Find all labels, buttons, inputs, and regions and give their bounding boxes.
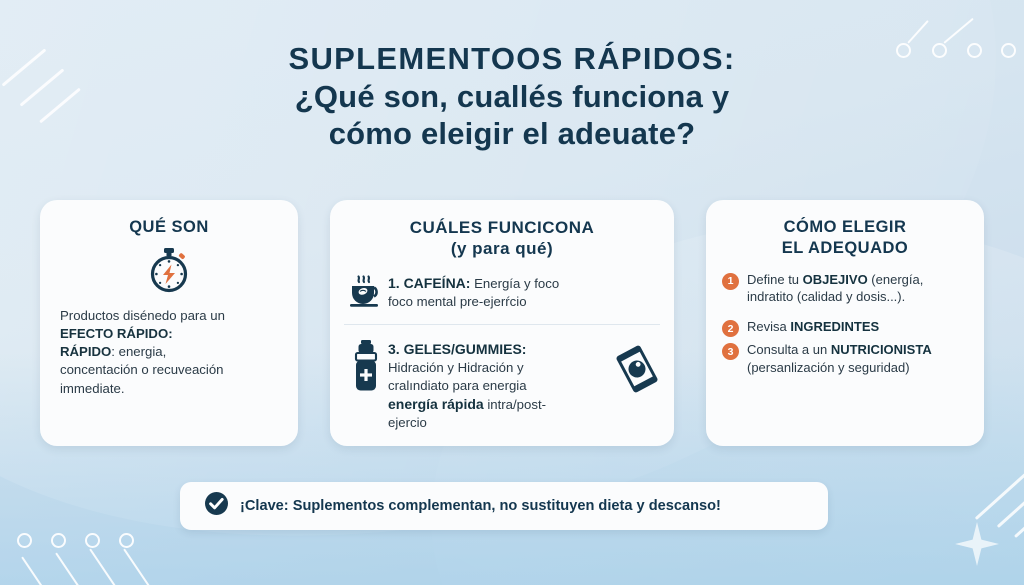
what-body-line4: immediate. (60, 381, 125, 396)
check-circle-icon (204, 491, 229, 521)
sports-bottle-icon (344, 338, 388, 392)
step-3-line2: (persanlización y seguridad) (747, 360, 910, 375)
card-divider (344, 324, 660, 325)
spacer (722, 309, 968, 318)
cafeina-label: 1. CAFEÍNA: (388, 275, 470, 291)
geles-bold: energía rápida (388, 396, 484, 412)
list-item-step-1: 1 Define tu OBJEJIVO (energía, indratito… (722, 271, 968, 306)
geles-line1: Hidración y Hidración y (388, 360, 524, 375)
step-1-line2: indratito (calidad y dosis...). (747, 289, 905, 304)
what-body-bold1: EFECTO RÁPIDO: (60, 326, 173, 341)
card-how-heading: CÓMO ELEGIR EL ADEQUADO (706, 200, 984, 259)
step-1-text: Define tu OBJEJIVO (energía, indratito (… (747, 271, 923, 306)
list-item-step-2: 2 Revisa INGREDINTES (722, 318, 968, 337)
which-heading-line2: (y para qué) (330, 238, 674, 259)
step-1-bold: OBJEJIVO (803, 272, 868, 287)
step-3-text: Consulta a un NUTRICIONISTA (persanlizac… (747, 341, 932, 376)
decorative-circle (17, 533, 32, 548)
step-number-badge: 3 (722, 343, 739, 360)
decorative-circle (85, 533, 100, 548)
what-body-line1: Productos disénedo para un (60, 308, 225, 323)
card-what-heading: QUÉ SON (40, 200, 298, 238)
step-3-bold: NUTRICIONISTA (831, 342, 932, 357)
card-which-heading: CUÁLES FUNCICONA (y para qué) (330, 200, 674, 260)
geles-text: 3. GELES/GUMMIES: Hidración y Hidración … (388, 338, 546, 432)
stopwatch-icon (40, 247, 298, 293)
how-heading-line2: EL ADEQUADO (706, 238, 984, 259)
step-2-text: Revisa INGREDINTES (747, 318, 879, 335)
title-line-1: SUPLEMENTOOS RÁPIDOS: (0, 40, 1024, 78)
geles-line4: ejercio (388, 415, 427, 430)
decorative-circle (51, 533, 66, 548)
gel-packet-icon (612, 344, 662, 399)
geles-line3: intra/post- (484, 397, 546, 412)
title-line-3: cómo eleigir el adeuate? (0, 115, 1024, 153)
step-3-pre: Consulta a un (747, 342, 831, 357)
geles-line2: cralındiato para energia (388, 378, 527, 393)
how-steps-list: 1 Define tu OBJEJIVO (energía, indratito… (706, 259, 984, 377)
title-line-2: ¿Qué son, cuallés funciona y (0, 78, 1024, 116)
key-takeaway-banner: ¡Clave: Suplementos complementan, no sus… (180, 482, 828, 530)
step-number-badge: 1 (722, 273, 739, 290)
card-cuales-funciona: CUÁLES FUNCICONA (y para qué) (330, 200, 674, 446)
step-1-pre: Define tu (747, 272, 803, 287)
what-body-bold2: RÁPIDO (60, 344, 111, 359)
card-como-elegir: CÓMO ELEGIR EL ADEQUADO 1 Define tu OBJE… (706, 200, 984, 446)
card-what-body: Productos disénedo para un EFECTO RÁPIDO… (40, 307, 298, 398)
what-body-line3: concentación o recuveación (60, 362, 224, 377)
step-1-post: (energía, (868, 272, 924, 287)
list-item-cafeina: 1. CAFEÍNA: Energía y foco foco mental p… (330, 272, 674, 328)
geles-label: 3. GELES/GUMMIES: (388, 341, 526, 357)
card-que-son: QUÉ SON Productos disénedo para un EFECT… (40, 200, 298, 446)
banner-text: ¡Clave: Suplementos complementan, no sus… (240, 498, 721, 514)
decorative-circle (119, 533, 134, 548)
cafeina-text: 1. CAFEÍNA: Energía y foco foco mental p… (388, 272, 559, 311)
how-heading-line1: CÓMO ELEGIR (706, 217, 984, 238)
list-item-geles: 3. GELES/GUMMIES: Hidración y Hidración … (330, 338, 674, 432)
list-item-step-3: 3 Consulta a un NUTRICIONISTA (persanliz… (722, 341, 968, 376)
cafeina-line2: foco mental pre-ejerŕcio (388, 294, 527, 309)
step-number-badge: 2 (722, 320, 739, 337)
cafeina-line1: Energía y foco (470, 276, 559, 291)
step-2-bold: INGREDINTES (790, 319, 879, 334)
page-title: SUPLEMENTOOS RÁPIDOS: ¿Qué son, cuallés … (0, 40, 1024, 153)
which-heading-line1: CUÁLES FUNCICONA (330, 217, 674, 238)
step-2-pre: Revisa (747, 319, 790, 334)
coffee-cup-icon (344, 272, 388, 308)
what-body-line2: : energia, (111, 344, 166, 359)
